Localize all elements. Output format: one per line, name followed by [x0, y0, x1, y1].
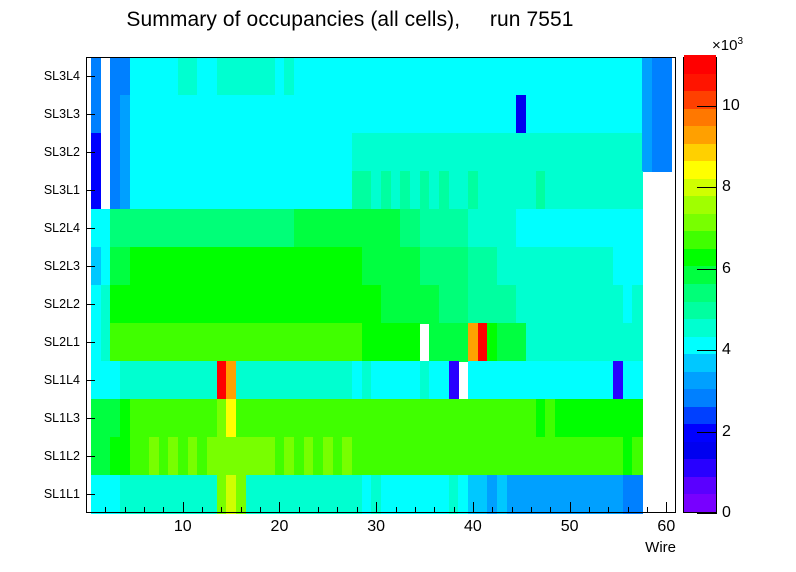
colorbar-band — [684, 143, 716, 161]
colorbar-band — [684, 213, 716, 231]
y-axis-tick — [86, 76, 95, 77]
heatmap-cell — [661, 57, 671, 96]
colorbar-tick-label: 0 — [722, 504, 731, 522]
y-axis-tick — [86, 380, 95, 381]
heatmap-cell — [449, 361, 459, 400]
x-axis-minor-tick — [105, 507, 106, 513]
x-axis-minor-tick — [337, 507, 338, 513]
colorbar-band — [684, 231, 716, 249]
colorbar-band — [684, 476, 716, 494]
x-axis-minor-tick — [434, 507, 435, 513]
colorbar-tick-label: 8 — [722, 178, 731, 196]
colorbar-tick — [697, 187, 717, 188]
colorbar[interactable] — [683, 57, 717, 513]
y-axis-tick — [86, 190, 95, 191]
heatmap-cell — [632, 475, 642, 514]
y-axis-tick — [86, 152, 95, 153]
y-axis-label-sl2l2: SL2L2 — [44, 297, 80, 311]
y-axis-tick — [86, 114, 95, 115]
x-axis-minor-tick — [396, 507, 397, 513]
colorbar-exponent: ×103 — [712, 36, 743, 54]
x-axis-minor-tick — [415, 507, 416, 513]
x-axis-minor-tick — [163, 507, 164, 513]
y-axis-label-sl3l3: SL3L3 — [44, 107, 80, 121]
colorbar-band — [684, 126, 716, 144]
y-axis-tick — [86, 456, 95, 457]
colorbar-band — [684, 248, 716, 266]
x-axis-minor-tick — [202, 507, 203, 513]
y-axis-tick — [86, 494, 95, 495]
heatmap-cell — [632, 323, 642, 362]
y-axis-label-sl1l4: SL1L4 — [44, 373, 80, 387]
heatmap-plot-area[interactable] — [86, 57, 676, 513]
x-axis-minor-tick — [589, 507, 590, 513]
heatmap-cell — [632, 437, 642, 476]
x-axis-minor-tick — [550, 507, 551, 513]
colorbar-band — [684, 283, 716, 301]
x-axis-minor-tick — [260, 507, 261, 513]
heatmap-cell — [661, 133, 671, 172]
y-axis-tick — [86, 342, 95, 343]
colorbar-tick-label: 2 — [722, 423, 731, 441]
x-axis-minor-tick — [357, 507, 358, 513]
x-axis-major-tick — [666, 502, 667, 513]
x-axis-minor-tick — [647, 507, 648, 513]
colorbar-band — [684, 73, 716, 91]
y-axis-label-sl2l1: SL2L1 — [44, 335, 80, 349]
colorbar-band — [684, 494, 716, 512]
y-axis-tick — [86, 304, 95, 305]
y-axis-label-sl2l3: SL2L3 — [44, 259, 80, 273]
colorbar-tick — [697, 106, 717, 107]
heatmap-cell — [632, 171, 642, 210]
colorbar-tick-label: 4 — [722, 341, 731, 359]
x-axis-title: Wire — [645, 539, 676, 556]
colorbar-tick — [697, 432, 717, 433]
x-axis-tick-label: 10 — [174, 518, 192, 536]
x-axis-major-tick — [570, 502, 571, 513]
x-axis-minor-tick — [125, 507, 126, 513]
y-axis-label-sl3l1: SL3L1 — [44, 183, 80, 197]
x-axis-major-tick — [183, 502, 184, 513]
x-axis-major-tick — [376, 502, 377, 513]
x-axis-minor-tick — [221, 507, 222, 513]
y-axis-label-sl3l2: SL3L2 — [44, 145, 80, 159]
x-axis-minor-tick — [144, 507, 145, 513]
x-axis-tick-label: 40 — [464, 518, 482, 536]
colorbar-band — [684, 108, 716, 126]
y-axis-labels: SL1L1SL1L2SL1L3SL1L4SL2L1SL2L2SL2L3SL2L4… — [0, 0, 80, 572]
colorbar-tick-label: 10 — [722, 97, 740, 115]
x-axis-major-tick — [473, 502, 474, 513]
x-axis-minor-tick — [608, 507, 609, 513]
x-axis-minor-tick — [628, 507, 629, 513]
colorbar-tick — [697, 269, 717, 270]
x-axis-tick-label: 30 — [367, 518, 385, 536]
colorbar-band — [684, 371, 716, 389]
heatmap-cell — [632, 285, 642, 324]
x-axis-tick-label: 20 — [271, 518, 289, 536]
heatmap-cell — [632, 209, 642, 248]
x-axis-minor-tick — [454, 507, 455, 513]
heatmap-cell — [632, 399, 642, 438]
heatmap-cell — [410, 323, 420, 362]
y-axis-label-sl1l3: SL1L3 — [44, 411, 80, 425]
colorbar-band — [684, 336, 716, 354]
x-axis-major-tick — [279, 502, 280, 513]
root-canvas: Summary of occupancies (all cells), run … — [0, 0, 796, 572]
y-axis-label-sl1l2: SL1L2 — [44, 449, 80, 463]
colorbar-band — [684, 55, 716, 73]
colorbar-exponent-power: 3 — [737, 36, 743, 47]
y-axis-label-sl3l4: SL3L4 — [44, 69, 80, 83]
heatmap-cell — [632, 361, 642, 400]
x-axis-minor-tick — [299, 507, 300, 513]
y-axis-label-sl1l1: SL1L1 — [44, 487, 80, 501]
x-axis-minor-tick — [512, 507, 513, 513]
x-axis-minor-tick — [531, 507, 532, 513]
x-axis-tick-label: 60 — [657, 518, 675, 536]
y-axis-tick — [86, 228, 95, 229]
colorbar-band — [684, 441, 716, 459]
colorbar-tick-label: 6 — [722, 260, 731, 278]
x-axis-minor-tick — [86, 507, 87, 513]
colorbar-tick — [697, 350, 717, 351]
colorbar-band — [684, 354, 716, 372]
colorbar-band — [684, 459, 716, 477]
y-axis-tick — [86, 266, 95, 267]
colorbar-band — [684, 301, 716, 319]
y-axis-tick — [86, 418, 95, 419]
heatmap-cell — [661, 95, 671, 134]
y-axis-label-sl2l4: SL2L4 — [44, 221, 80, 235]
x-axis-tick-label: 50 — [561, 518, 579, 536]
x-axis-minor-tick — [318, 507, 319, 513]
heatmap-cell — [632, 247, 642, 286]
colorbar-exponent-base: ×10 — [712, 37, 737, 54]
colorbar-band — [684, 389, 716, 407]
colorbar-band — [684, 196, 716, 214]
x-axis-minor-tick — [492, 507, 493, 513]
colorbar-tick — [697, 513, 717, 514]
colorbar-band — [684, 319, 716, 337]
colorbar-band — [684, 161, 716, 179]
colorbar-band — [684, 406, 716, 424]
page-title: Summary of occupancies (all cells), run … — [0, 8, 700, 32]
x-axis-minor-tick — [241, 507, 242, 513]
